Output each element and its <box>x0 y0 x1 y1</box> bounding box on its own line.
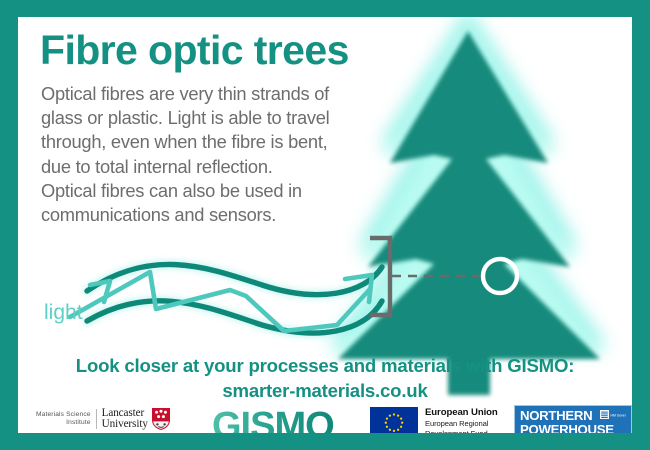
svg-text:HM Government: HM Government <box>611 414 627 418</box>
body-copy-line: due to total internal reflection. <box>41 155 386 179</box>
page-title: Fibre optic trees <box>40 27 349 74</box>
body-copy-line: communications and sensors. <box>41 203 386 227</box>
northern-powerhouse-logo: NORTHERN HM Government POWERHOUSE <box>514 405 632 433</box>
body-copy: Optical fibres are very thin strands of … <box>41 82 386 227</box>
european-union-logo: European Union European Regional Develop… <box>370 407 498 433</box>
eu-title: European Union <box>425 407 498 419</box>
body-copy-line: through, even when the fibre is bent, <box>41 130 386 154</box>
lancaster-line-2: University <box>102 419 148 430</box>
body-copy-line: glass or plastic. Light is able to trave… <box>41 106 386 130</box>
cta-line-1: Look closer at your processes and materi… <box>18 353 632 378</box>
lancaster-block: Lancaster University <box>97 407 171 431</box>
lancaster-crest-icon <box>151 407 171 431</box>
np-line-2: POWERHOUSE <box>520 423 626 433</box>
gismo-o-notch-icon <box>336 407 351 413</box>
msi-line-2: Institute <box>36 419 91 427</box>
light-label: light <box>44 301 83 324</box>
bulb-marker-icon <box>483 259 517 293</box>
msi-line-1: Materials Science <box>36 411 91 419</box>
lancaster-university-logo: Materials Science Institute Lancaster Un… <box>36 407 171 431</box>
logo-strip: Materials Science Institute Lancaster Un… <box>18 403 632 433</box>
body-copy-line: Optical fibres are very thin strands of <box>41 82 386 106</box>
poster-card: Fibre optic trees Optical fibres are ver… <box>18 17 632 433</box>
np-top-row: NORTHERN HM Government <box>520 409 626 423</box>
np-line-1: NORTHERN <box>520 409 592 423</box>
light-ray-path <box>70 272 370 331</box>
eu-subtitle-2: Development Fund <box>425 429 498 433</box>
hm-government-crest-icon: HM Government <box>600 410 626 422</box>
eu-flag-icon <box>370 407 418 433</box>
eu-subtitle-1: European Regional <box>425 419 498 429</box>
fibre-optic-diagram: light <box>32 225 532 345</box>
gismo-logo: GISMO <box>210 403 358 433</box>
gismo-wordmark: GISMO <box>212 405 334 433</box>
fibre-wall-bottom <box>87 301 382 333</box>
lancaster-wordmark: Lancaster University <box>102 408 148 430</box>
cta-url[interactable]: smarter-materials.co.uk <box>18 378 632 403</box>
eu-wordmark: European Union European Regional Develop… <box>418 407 498 433</box>
body-copy-line: Optical fibres can also be used in <box>41 179 386 203</box>
call-to-action: Look closer at your processes and materi… <box>18 353 632 403</box>
poster-root: Fibre optic trees Optical fibres are ver… <box>0 0 650 450</box>
materials-science-institute-wordmark: Materials Science Institute <box>36 411 96 428</box>
